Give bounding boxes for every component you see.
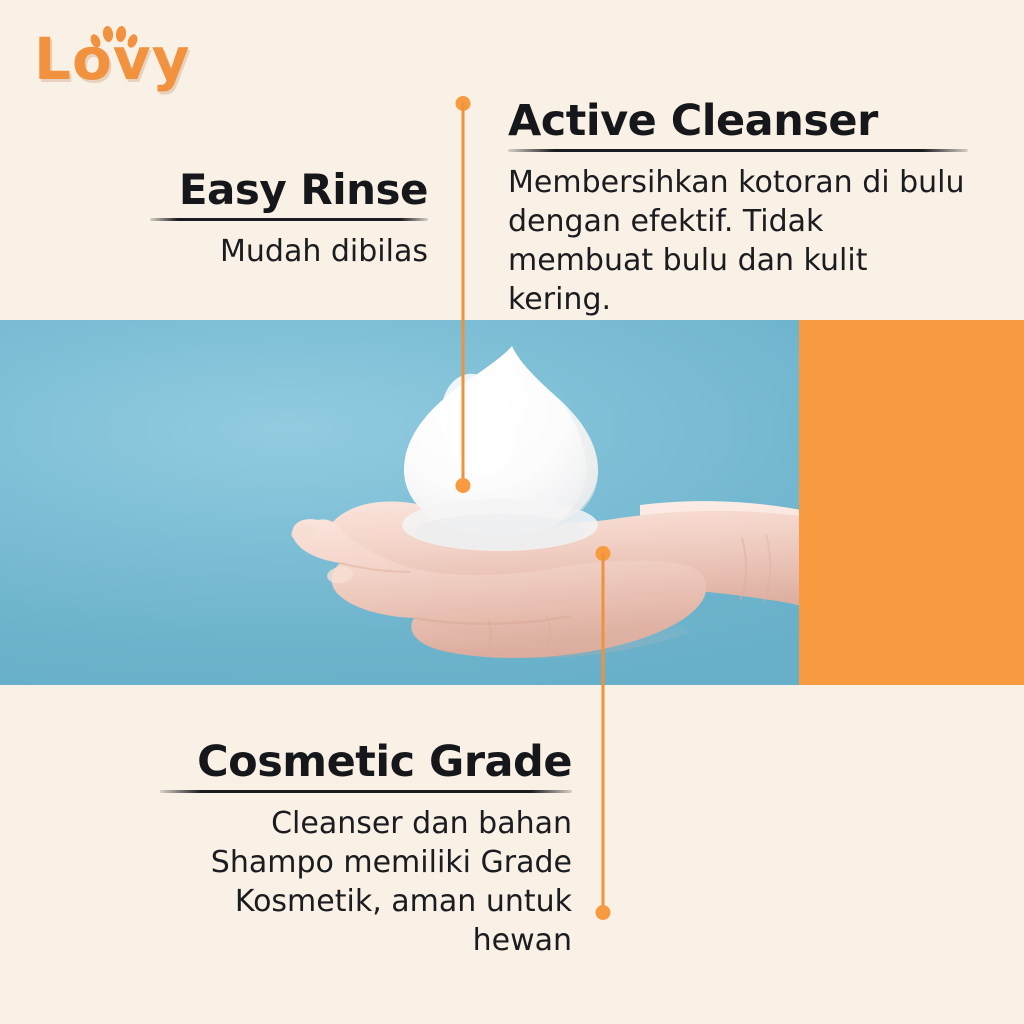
feature-cosmetic-grade-title: Cosmetic Grade <box>160 737 572 787</box>
connector-active-cleanser <box>455 96 471 500</box>
connector-line <box>462 103 465 493</box>
product-photo-band <box>0 320 1024 685</box>
feature-cosmetic-grade-body: Cleanser dan bahan Shampo memiliki Grade… <box>160 804 572 960</box>
feature-easy-rinse-title: Easy Rinse <box>150 165 428 215</box>
feature-easy-rinse: Easy Rinse Mudah dibilas <box>150 165 428 271</box>
brand-logo: Lovy <box>34 20 224 98</box>
orange-accent-block <box>799 320 1024 685</box>
connector-line <box>602 553 605 919</box>
title-underline <box>508 149 968 152</box>
connector-cosmetic-grade <box>595 546 611 926</box>
title-underline <box>150 218 428 221</box>
product-infographic-page: Lovy <box>0 0 1024 1024</box>
feature-active-cleanser: Active Cleanser Membersihkan kotoran di … <box>508 96 968 319</box>
feature-cosmetic-grade: Cosmetic Grade Cleanser dan bahan Shampo… <box>160 737 572 960</box>
connector-dot-end <box>456 478 471 493</box>
connector-dot-end <box>596 905 611 920</box>
feature-active-cleanser-body: Membersihkan kotoran di bulu dengan efek… <box>508 163 968 319</box>
paw-print-icon <box>89 22 137 52</box>
feature-active-cleanser-title: Active Cleanser <box>508 96 968 146</box>
title-underline <box>160 790 572 793</box>
feature-easy-rinse-body: Mudah dibilas <box>150 232 428 271</box>
